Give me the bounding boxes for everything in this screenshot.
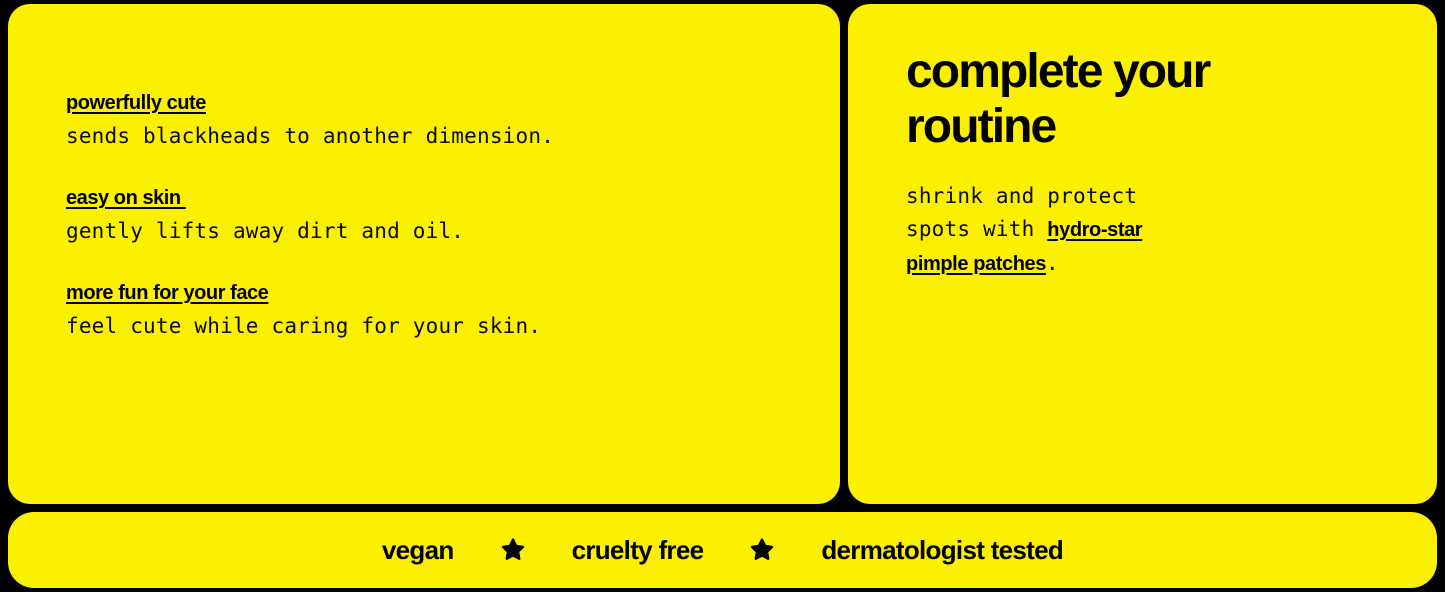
badge-dermatologist-tested: dermatologist tested <box>821 535 1063 566</box>
link-text-line1: hydro-star <box>1047 219 1142 241</box>
feature-description: gently lifts away dirt and oil. <box>66 218 766 244</box>
feature-block-easy-on-skin: easy on skin gently lifts away dirt and … <box>66 185 766 244</box>
routine-card: complete your routine shrink and protect… <box>848 4 1437 504</box>
feature-block-powerfully-cute: powerfully cute sends blackheads to anot… <box>66 90 766 149</box>
feature-title: more fun for your face <box>66 280 268 306</box>
routine-body-period: . <box>1046 251 1059 275</box>
promo-banner: powerfully cute sends blackheads to anot… <box>0 0 1445 592</box>
feature-title: powerfully cute <box>66 90 206 116</box>
link-text-line2: pimple patches <box>906 253 1046 275</box>
feature-block-more-fun-for-your-face: more fun for your face feel cute while c… <box>66 280 766 339</box>
star-icon <box>454 538 572 562</box>
star-icon <box>703 538 821 562</box>
badge-bar: vegan cruelty free dermatologist tested <box>8 512 1437 588</box>
feature-list: powerfully cute sends blackheads to anot… <box>66 90 766 339</box>
features-card: powerfully cute sends blackheads to anot… <box>8 4 840 504</box>
badge-vegan: vegan <box>382 535 454 566</box>
badge-cruelty-free: cruelty free <box>572 535 704 566</box>
routine-body: shrink and protect spots with hydro-star… <box>906 180 1206 281</box>
feature-description: feel cute while caring for your skin. <box>66 313 766 339</box>
feature-title: easy on skin <box>66 185 186 211</box>
routine-heading: complete your routine <box>906 44 1306 154</box>
feature-description: sends blackheads to another dimension. <box>66 123 766 149</box>
